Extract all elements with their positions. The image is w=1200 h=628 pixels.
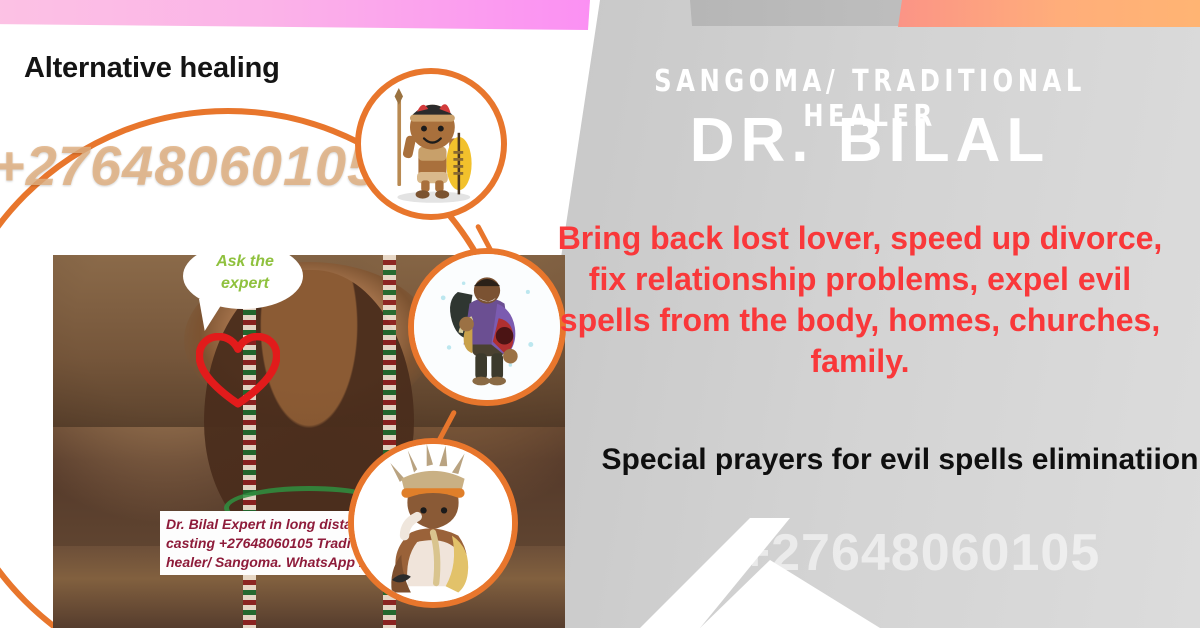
alternative-healing-heading: Alternative healing xyxy=(24,52,280,85)
special-prayers-text: Special prayers for evil spells eliminat… xyxy=(600,440,1200,479)
heart-icon xyxy=(196,333,280,409)
circle-zulu-warrior-cartoon xyxy=(355,68,507,220)
page-title: DR. BILAL xyxy=(560,108,1180,173)
phone-watermark: +27648060105 xyxy=(640,523,1200,583)
poster-canvas: Alternative healing +27648060105 Ask the… xyxy=(0,0,1200,628)
orange-accent-bar xyxy=(898,0,1200,27)
photo-phone-watermark: +27648060105 xyxy=(0,133,379,198)
circle-crouching-sangoma xyxy=(348,438,518,608)
ask-the-expert-bubble: Ask the expert xyxy=(183,243,303,309)
services-text: Bring back lost lover, speed up divorce,… xyxy=(540,218,1180,382)
ask-the-expert-label: Ask the expert xyxy=(193,251,297,294)
